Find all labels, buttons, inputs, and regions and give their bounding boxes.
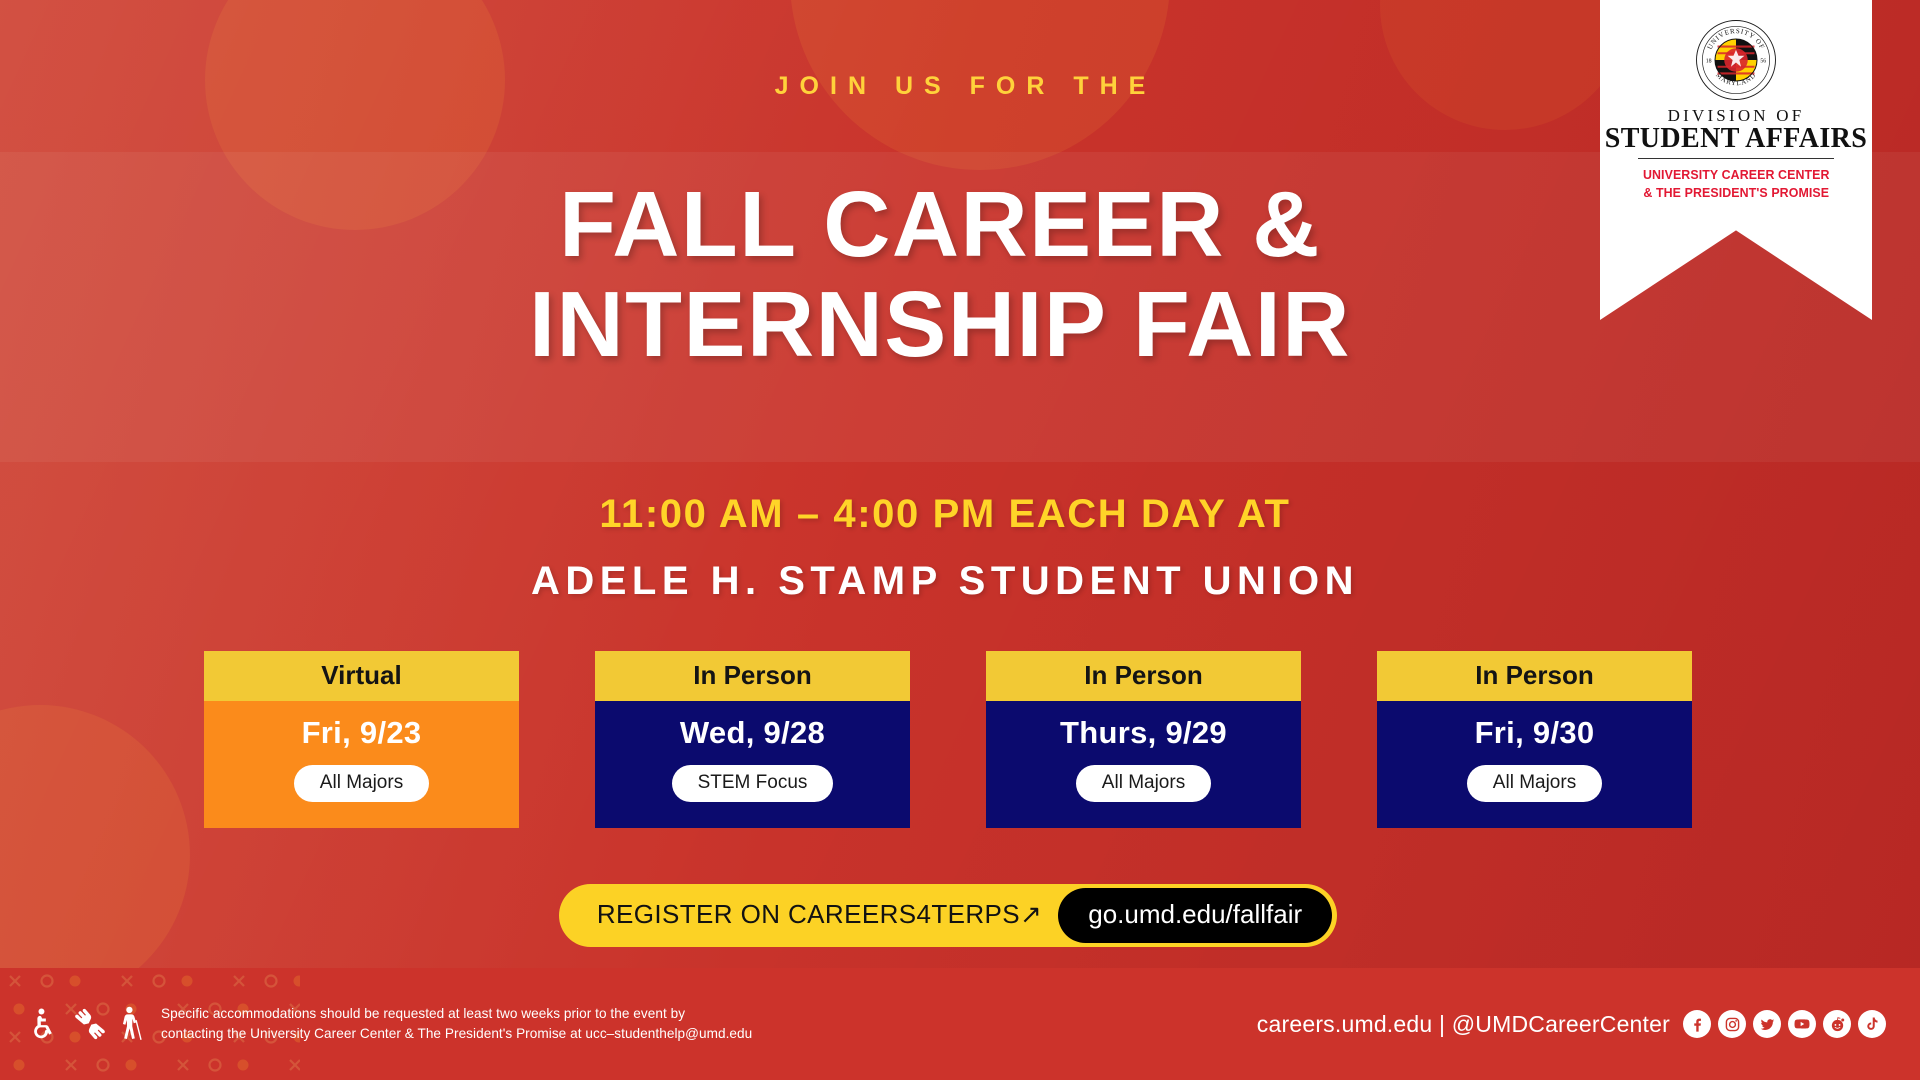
accessibility-icon-group — [28, 1006, 142, 1042]
register-label: REGISTER ON CAREERS4TERPS↗ — [559, 889, 1058, 942]
card-body: Fri, 9/30 All Majors — [1377, 701, 1692, 828]
facebook-icon[interactable] — [1683, 1010, 1711, 1038]
card-body: Wed, 9/28 STEM Focus — [595, 701, 910, 828]
card-date: Wed, 9/28 — [595, 715, 910, 751]
card-tag-badge: All Majors — [1467, 765, 1602, 802]
card-format-label: In Person — [595, 651, 910, 701]
social-block: careers.umd.edu | @UMDCareerCenter — [1257, 1010, 1886, 1038]
svg-text:56: 56 — [1760, 59, 1766, 65]
event-time: 11:00 AM – 4:00 PM EACH DAY AT — [0, 492, 1890, 537]
accommodations-line-1: Specific accommodations should be reques… — [161, 1004, 752, 1024]
card-date: Fri, 9/23 — [204, 715, 519, 751]
date-card[interactable]: In Person Wed, 9/28 STEM Focus — [595, 651, 910, 828]
student-affairs-label: STUDENT AFFAIRS — [1605, 125, 1867, 153]
event-details: 11:00 AM – 4:00 PM EACH DAY AT ADELE H. … — [0, 492, 1920, 604]
instagram-icon[interactable] — [1718, 1010, 1746, 1038]
white-cane-icon — [118, 1006, 142, 1042]
accommodations-line-2: contacting the University Career Center … — [161, 1024, 752, 1044]
card-tag-badge: All Majors — [1076, 765, 1211, 802]
card-tag-badge: All Majors — [294, 765, 429, 802]
date-card[interactable]: In Person Thurs, 9/29 All Majors — [986, 651, 1301, 828]
register-button[interactable]: REGISTER ON CAREERS4TERPS↗ go.umd.edu/fa… — [559, 884, 1337, 947]
card-format-label: In Person — [1377, 651, 1692, 701]
card-body: Thurs, 9/29 All Majors — [986, 701, 1301, 828]
date-card-list: Virtual Fri, 9/23 All Majors In Person W… — [0, 651, 1920, 828]
card-date: Thurs, 9/29 — [986, 715, 1301, 751]
reddit-icon[interactable] — [1823, 1010, 1851, 1038]
date-card[interactable]: In Person Fri, 9/30 All Majors — [1377, 651, 1692, 828]
wheelchair-icon — [28, 1006, 62, 1042]
footer-content: Specific accommodations should be reques… — [0, 968, 1920, 1080]
social-icon-group — [1683, 1010, 1886, 1038]
card-tag-badge: STEM Focus — [672, 765, 834, 802]
university-seal-icon: UNIVERSITY OF MARYLAND 18 56 — [1694, 18, 1778, 102]
poster-canvas: UNIVERSITY OF MARYLAND 18 56 — [0, 0, 1920, 1080]
card-date: Fri, 9/30 — [1377, 715, 1692, 751]
youtube-icon[interactable] — [1788, 1010, 1816, 1038]
card-format-label: Virtual — [204, 651, 519, 701]
tiktok-icon[interactable] — [1858, 1010, 1886, 1038]
footer-bar: Specific accommodations should be reques… — [0, 968, 1920, 1080]
accommodations-note: Specific accommodations should be reques… — [161, 1004, 752, 1043]
twitter-icon[interactable] — [1753, 1010, 1781, 1038]
logo-divider — [1638, 158, 1834, 159]
title-line-2: INTERNSHIP FAIR — [0, 274, 1880, 374]
date-card[interactable]: Virtual Fri, 9/23 All Majors — [204, 651, 519, 828]
register-url[interactable]: go.umd.edu/fallfair — [1058, 888, 1332, 943]
career-center-label: UNIVERSITY CAREER CENTER & THE PRESIDENT… — [1643, 166, 1830, 201]
decorative-circle — [1380, 0, 1630, 130]
title-line-1: FALL CAREER & — [0, 174, 1880, 274]
website-and-handle: careers.umd.edu | @UMDCareerCenter — [1257, 1011, 1670, 1038]
card-body: Fri, 9/23 All Majors — [204, 701, 519, 828]
event-location: ADELE H. STAMP STUDENT UNION — [0, 559, 1890, 604]
svg-text:18: 18 — [1706, 59, 1712, 65]
register-cta: REGISTER ON CAREERS4TERPS↗ go.umd.edu/fa… — [0, 884, 1920, 947]
card-format-label: In Person — [986, 651, 1301, 701]
sign-language-icon — [71, 1006, 109, 1042]
